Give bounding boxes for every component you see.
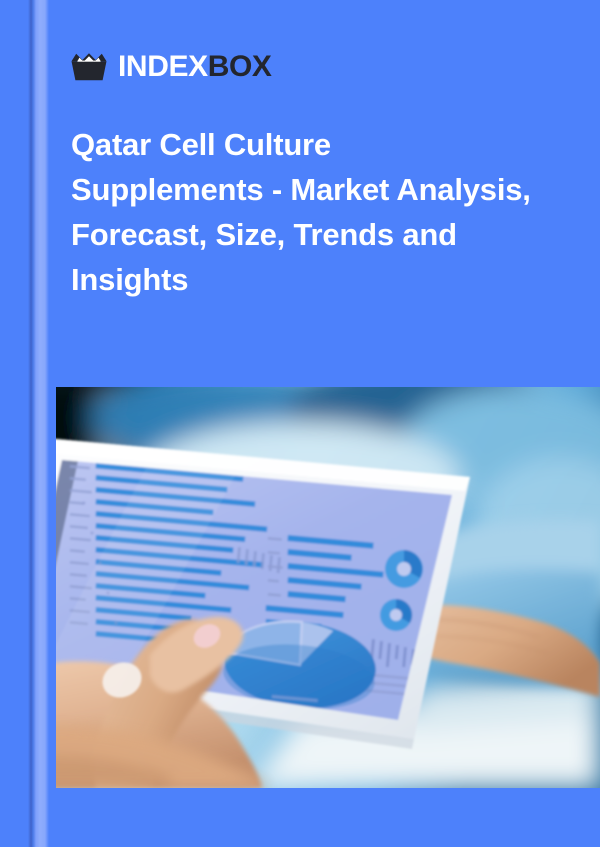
- footer-band: [0, 788, 600, 847]
- crown-basket-icon: [71, 53, 107, 81]
- page-title: Qatar Cell Culture Supplements - Market …: [71, 122, 531, 302]
- report-cover-page: INDEXBOX Qatar Cell Culture Supplements …: [0, 0, 600, 847]
- brand-logo[interactable]: INDEXBOX: [71, 48, 272, 86]
- brand-wordmark-box: BOX: [208, 50, 272, 83]
- header-band: INDEXBOX Qatar Cell Culture Supplements …: [0, 0, 600, 387]
- brand-wordmark-index: INDEX: [118, 50, 208, 83]
- hero-image: [0, 387, 600, 788]
- brand-wordmark: INDEXBOX: [118, 52, 272, 82]
